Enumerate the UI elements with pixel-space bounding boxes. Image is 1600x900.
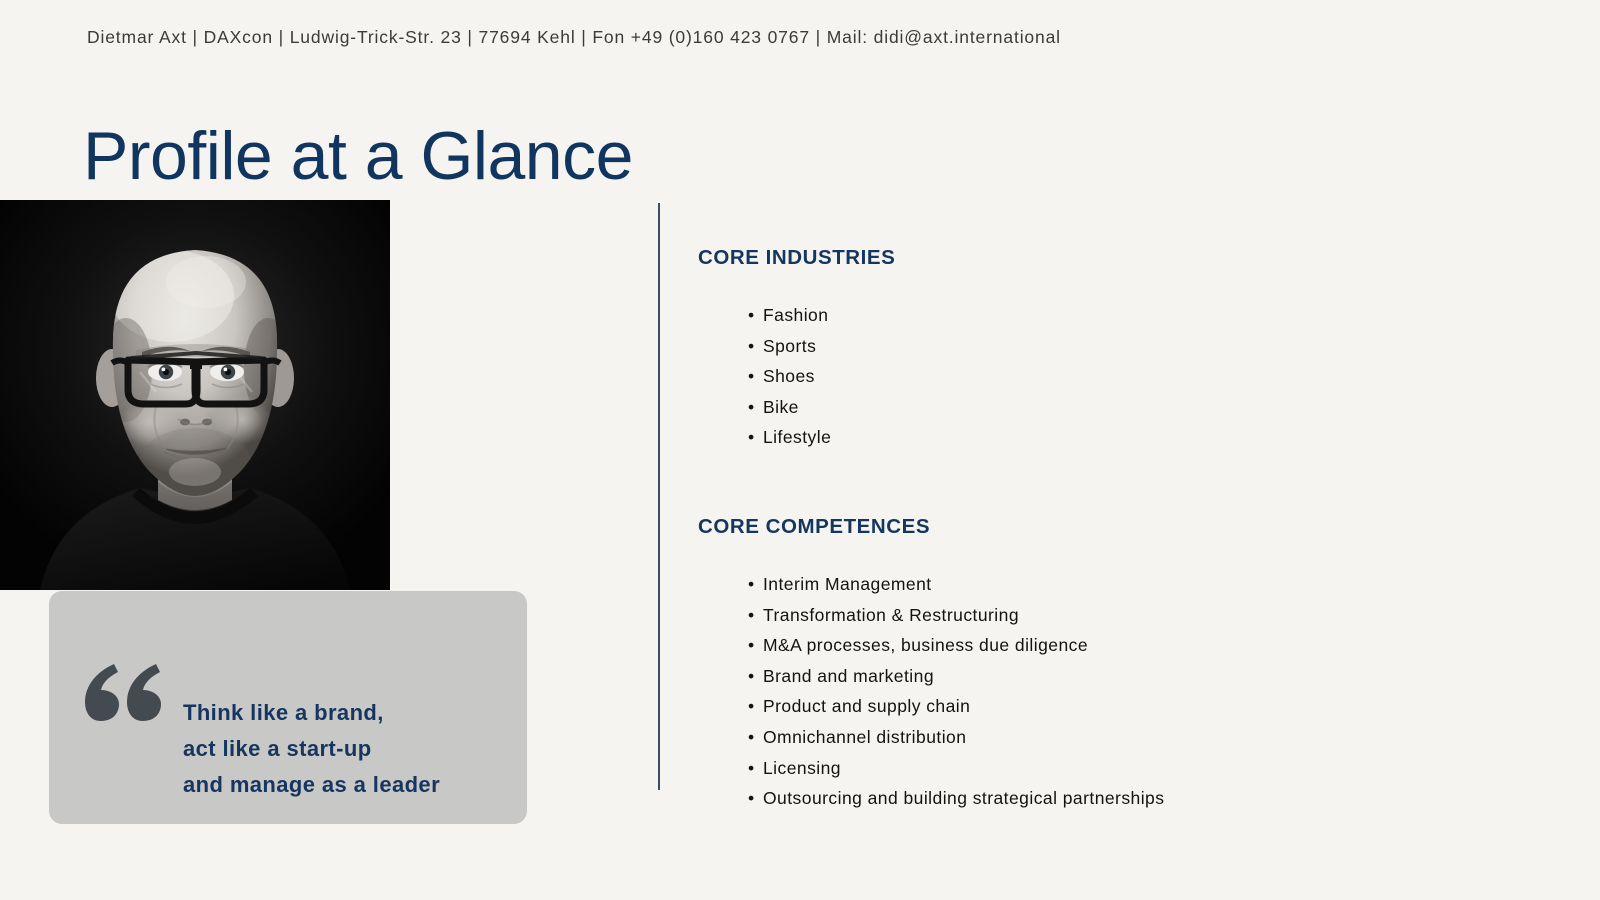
bullet-icon: •	[748, 422, 755, 453]
portrait-photo	[0, 200, 390, 590]
vertical-divider	[658, 203, 660, 790]
list-item: •Omnichannel distribution	[748, 722, 1508, 753]
list-item: •Lifestyle	[748, 422, 1508, 453]
quote-card: Think like a brand, act like a start-up …	[49, 591, 527, 824]
contact-header: Dietmar Axt | DAXcon | Ludwig-Trick-Str.…	[87, 27, 1061, 48]
bullet-icon: •	[748, 783, 755, 814]
list-item-label: Bike	[763, 397, 799, 417]
list-item-label: Product and supply chain	[763, 696, 970, 716]
section-core-industries: CORE INDUSTRIES •Fashion •Sports •Shoes …	[698, 246, 895, 270]
page-title: Profile at a Glance	[83, 114, 633, 198]
bullet-icon: •	[748, 661, 755, 692]
list-item-label: Fashion	[763, 305, 828, 325]
section-heading-core-competences: CORE COMPETENCES	[698, 515, 930, 539]
list-item-label: Omnichannel distribution	[763, 727, 966, 747]
bullet-icon: •	[748, 331, 755, 362]
quote-open-mark-icon	[85, 663, 165, 721]
bullet-icon: •	[748, 753, 755, 784]
list-item-label: Sports	[763, 336, 816, 356]
list-item: •Licensing	[748, 753, 1508, 784]
quote-text: Think like a brand, act like a start-up …	[183, 695, 440, 803]
list-item: •M&A processes, business due diligence	[748, 630, 1508, 661]
list-item: •Product and supply chain	[748, 691, 1508, 722]
list-item: •Bike	[748, 392, 1508, 423]
core-competences-list: •Interim Management •Transformation & Re…	[748, 569, 1508, 814]
list-item: •Brand and marketing	[748, 661, 1508, 692]
list-item-label: Shoes	[763, 366, 815, 386]
bullet-icon: •	[748, 722, 755, 753]
list-item: •Outsourcing and building strategical pa…	[748, 783, 1508, 814]
core-industries-list: •Fashion •Sports •Shoes •Bike •Lifestyle	[748, 300, 1508, 453]
bullet-icon: •	[748, 569, 755, 600]
bullet-icon: •	[748, 600, 755, 631]
bullet-icon: •	[748, 630, 755, 661]
list-item-label: Brand and marketing	[763, 666, 934, 686]
list-item-label: Licensing	[763, 758, 841, 778]
list-item: •Interim Management	[748, 569, 1508, 600]
section-heading-core-industries: CORE INDUSTRIES	[698, 246, 895, 270]
list-item: •Sports	[748, 331, 1508, 362]
list-item: •Fashion	[748, 300, 1508, 331]
bullet-icon: •	[748, 691, 755, 722]
list-item-label: Outsourcing and building strategical par…	[763, 788, 1164, 808]
list-item-label: M&A processes, business due diligence	[763, 635, 1088, 655]
bullet-icon: •	[748, 361, 755, 392]
list-item: •Shoes	[748, 361, 1508, 392]
section-core-competences: CORE COMPETENCES •Interim Management •Tr…	[698, 515, 930, 539]
bullet-icon: •	[748, 392, 755, 423]
list-item: •Transformation & Restructuring	[748, 600, 1508, 631]
bullet-icon: •	[748, 300, 755, 331]
list-item-label: Transformation & Restructuring	[763, 605, 1019, 625]
list-item-label: Interim Management	[763, 574, 932, 594]
list-item-label: Lifestyle	[763, 427, 831, 447]
